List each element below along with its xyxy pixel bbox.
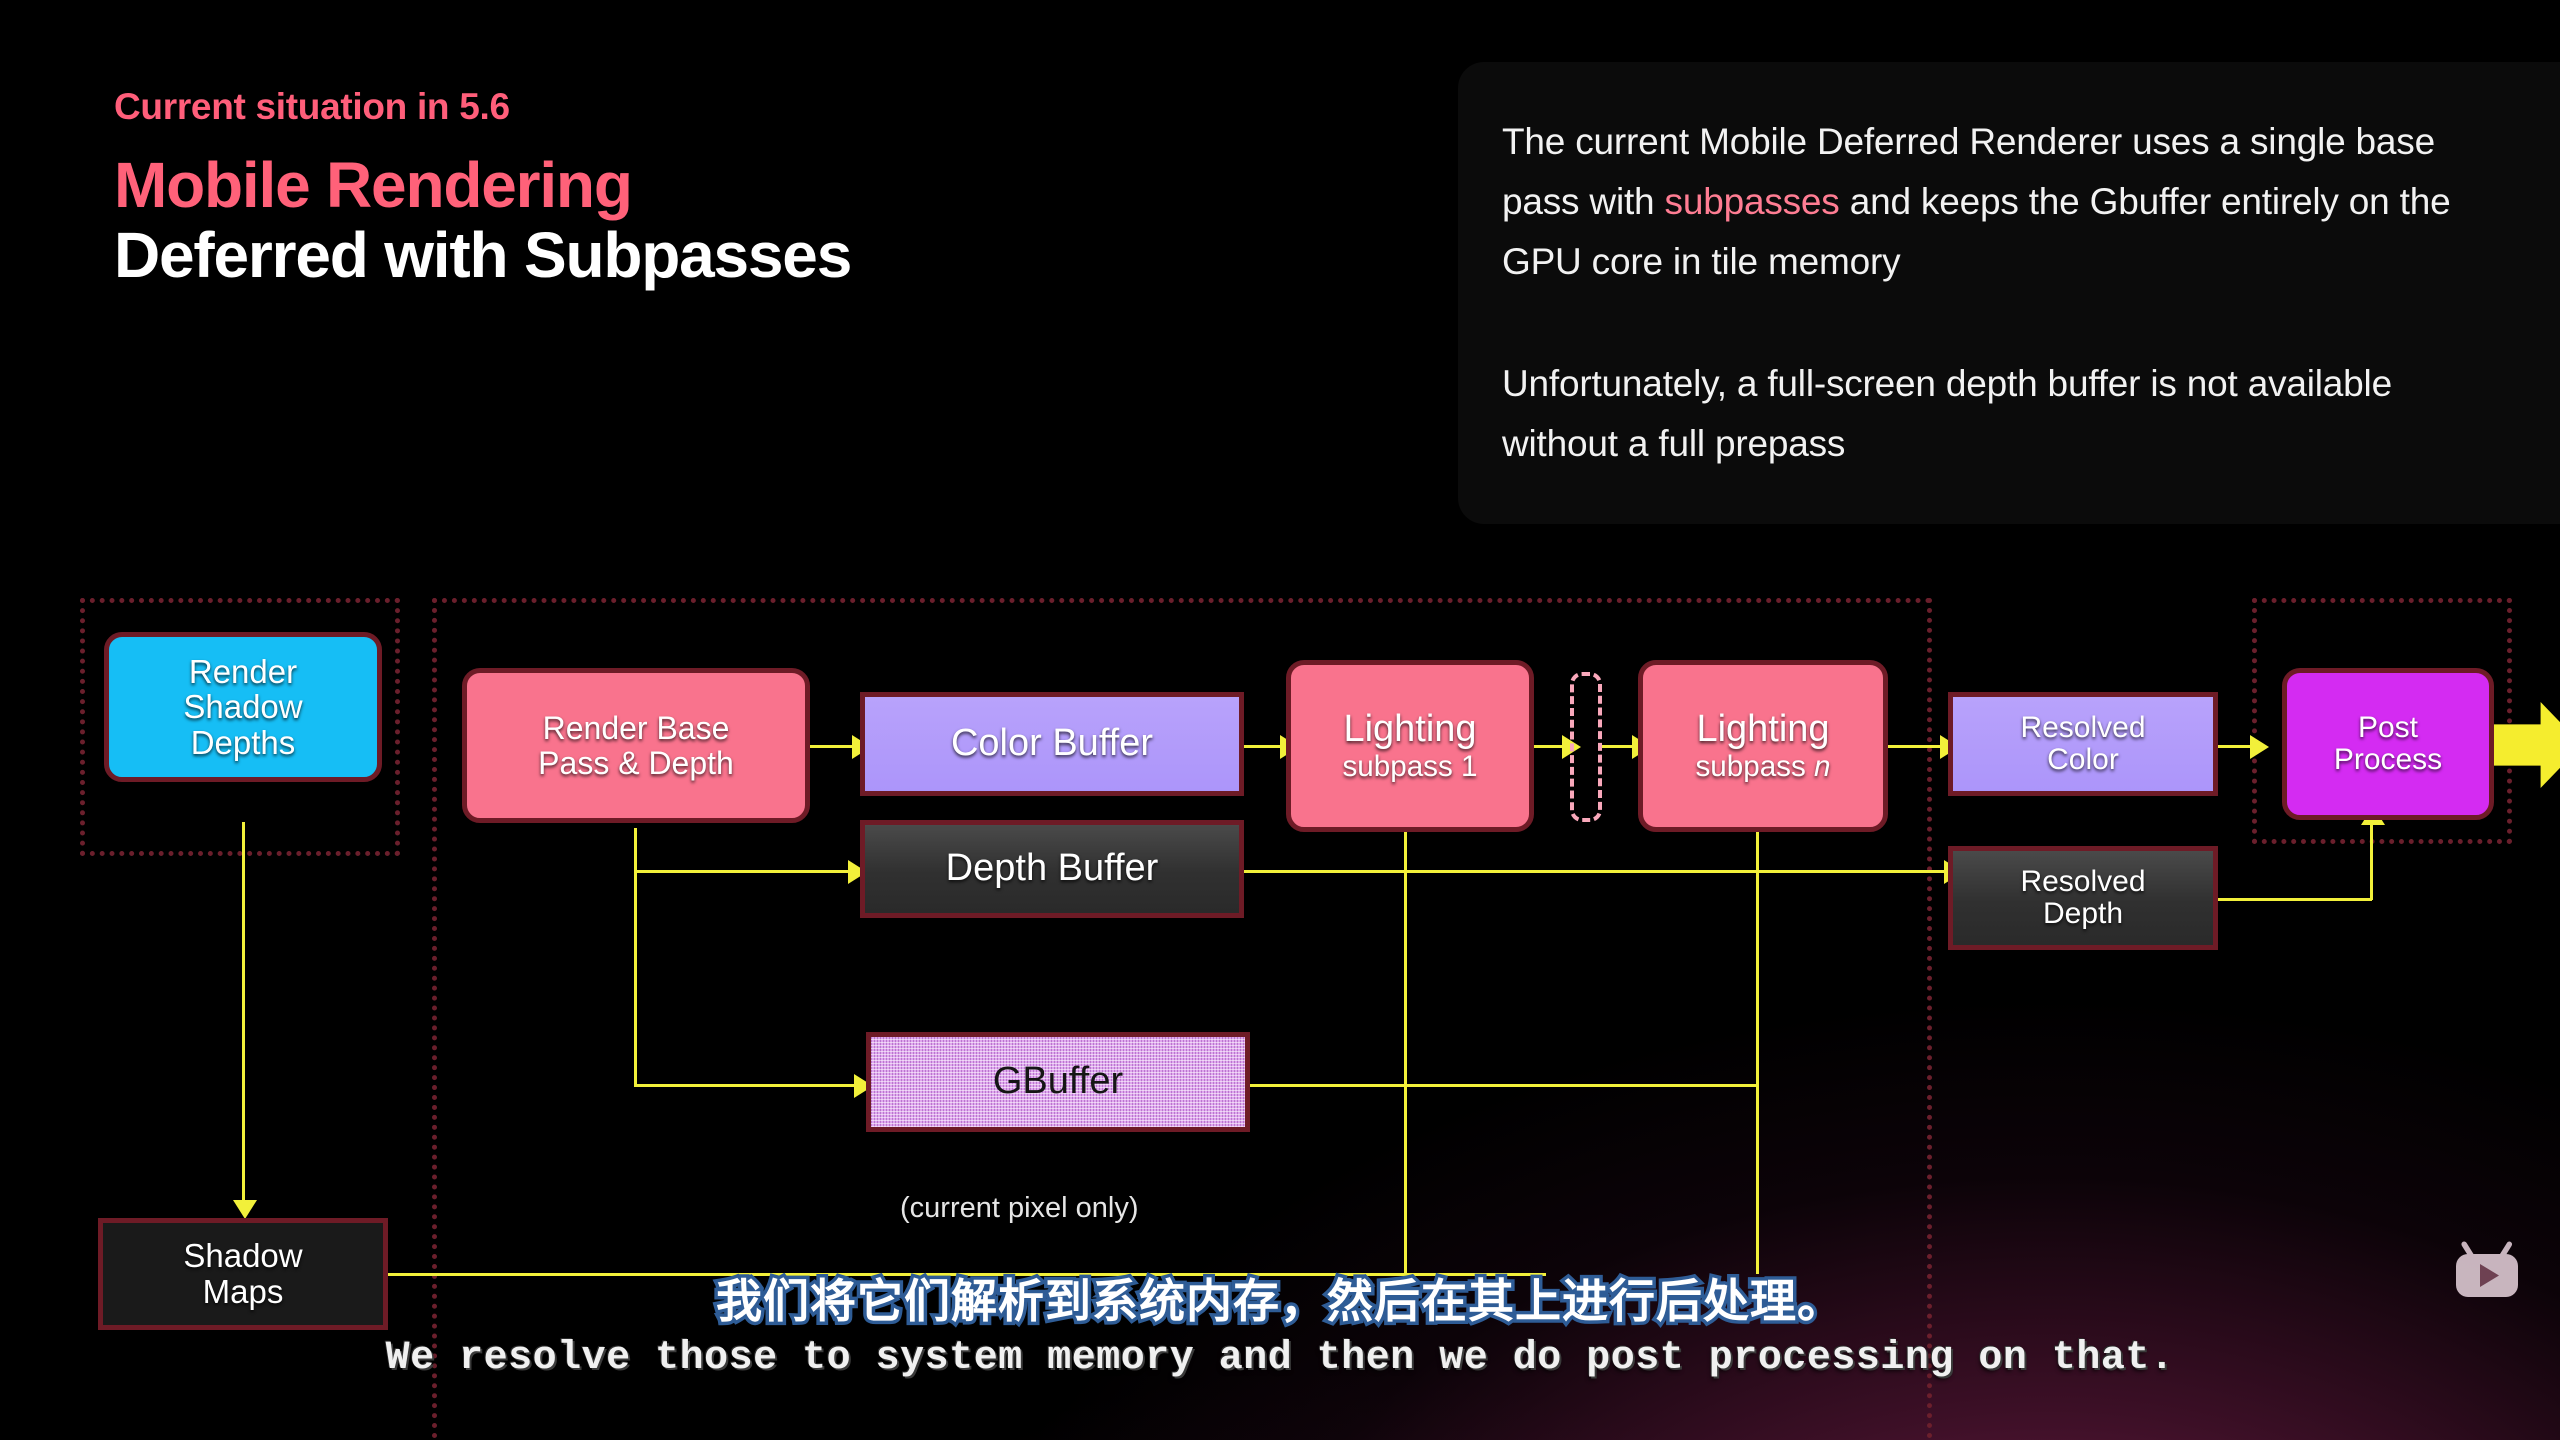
node-lighting-last-sub-prefix: subpass (1695, 750, 1814, 783)
node-render-shadow-depths-line2: Shadow (183, 689, 302, 725)
node-resolved-color[interactable]: Resolved Color (1948, 692, 2218, 796)
node-lighting-last-sub-index: n (1814, 750, 1830, 783)
node-resolved-color-line1: Resolved (2020, 712, 2145, 744)
node-shadow-maps-line1: Shadow (183, 1238, 302, 1274)
node-post-process[interactable]: Post Process (2282, 668, 2494, 820)
wire-gbuffer-up-lightingn (1756, 876, 1759, 1086)
node-lighting-first-title: Lighting (1343, 709, 1476, 750)
wire-resolveddepth-up (2370, 822, 2373, 900)
pipeline-diagram: (current pixel only) (0, 560, 2560, 1320)
wire-gbuffer-up-lighting1 (1404, 876, 1407, 1086)
node-render-base-pass-line2: Pass & Depth (538, 746, 734, 781)
slide-title-line1: Mobile Rendering (114, 153, 851, 218)
node-gbuffer[interactable]: GBuffer (866, 1032, 1250, 1132)
tv-play-icon (2453, 1240, 2521, 1300)
info-paragraph-2: Unfortunately, a full-screen depth buffe… (1502, 354, 2516, 474)
node-lighting-last-title: Lighting (1696, 709, 1829, 750)
headline-block: Current situation in 5.6 Mobile Renderin… (114, 88, 851, 289)
wire-resolveddepth-right (2212, 898, 2372, 901)
node-resolved-depth-line1: Resolved (2020, 866, 2145, 898)
node-lighting-first-sub: subpass 1 (1342, 751, 1477, 783)
wire-colorbuffer-to-lighting1 (1243, 745, 1285, 748)
subtitle-block: 我们将它们解析到系统内存，然后在其上进行后处理。 We resolve thos… (0, 1276, 2560, 1381)
subtitle-chinese: 我们将它们解析到系统内存，然后在其上进行后处理。 (0, 1276, 2560, 1327)
wire-depth-up-lighting1 (1404, 828, 1407, 876)
node-depth-buffer-label: Depth Buffer (946, 848, 1159, 889)
wire-basepass-to-colorbuffer (810, 745, 858, 748)
node-render-base-pass[interactable]: Render Base Pass & Depth (462, 668, 810, 823)
node-render-base-pass-line1: Render Base (543, 711, 730, 746)
node-lighting-subpass-last[interactable]: Lighting subpass n (1638, 660, 1888, 832)
node-color-buffer[interactable]: Color Buffer (860, 692, 1244, 796)
wire-to-depthbuffer (634, 870, 854, 873)
node-resolved-depth[interactable]: Resolved Depth (1948, 846, 2218, 950)
wire-depth-up-lightingn (1756, 828, 1759, 876)
current-pixel-note: (current pixel only) (900, 1192, 1139, 1225)
node-depth-buffer[interactable]: Depth Buffer (860, 820, 1244, 918)
slide-canvas: Current situation in 5.6 Mobile Renderin… (0, 0, 2560, 1440)
arrowhead-postprocess (2250, 735, 2269, 759)
wire-shadowdepths-to-shadowmaps (242, 822, 245, 1208)
node-color-buffer-label: Color Buffer (951, 723, 1153, 764)
slide-title-line2: Deferred with Subpasses (114, 222, 851, 289)
info-paragraph-1: The current Mobile Deferred Renderer use… (1502, 112, 2516, 292)
slide-kicker: Current situation in 5.6 (114, 88, 851, 125)
node-lighting-last-sub: subpass n (1695, 751, 1830, 783)
wire-lightingn-to-resolvedcolor (1888, 745, 1948, 748)
lighting-ellipsis-placeholder (1570, 672, 1602, 822)
wire-depthbuffer-out (1243, 870, 1953, 873)
node-resolved-color-line2: Color (2047, 744, 2119, 776)
node-post-process-line1: Post (2358, 712, 2418, 744)
wire-down-left-return (1404, 1084, 1407, 1274)
node-render-shadow-depths-line3: Depths (191, 725, 296, 761)
info-panel: The current Mobile Deferred Renderer use… (1458, 62, 2560, 524)
subtitle-english: We resolve those to system memory and th… (0, 1337, 2560, 1381)
wire-to-gbuffer (634, 1084, 860, 1087)
node-lighting-subpass-first[interactable]: Lighting subpass 1 (1286, 660, 1534, 832)
wire-basepass-down (634, 828, 637, 1086)
info-p1-highlight: subpasses (1665, 181, 1840, 222)
wire-down-right-return (1756, 1084, 1759, 1274)
node-post-process-line2: Process (2334, 744, 2442, 776)
node-resolved-depth-line2: Depth (2043, 898, 2123, 930)
node-render-shadow-depths[interactable]: Render Shadow Depths (104, 632, 382, 782)
node-render-shadow-depths-line1: Render (189, 654, 297, 690)
node-gbuffer-label: GBuffer (993, 1061, 1123, 1102)
wire-gbuffer-out (1248, 1084, 1758, 1087)
arrowhead-shadowmaps (233, 1200, 257, 1219)
